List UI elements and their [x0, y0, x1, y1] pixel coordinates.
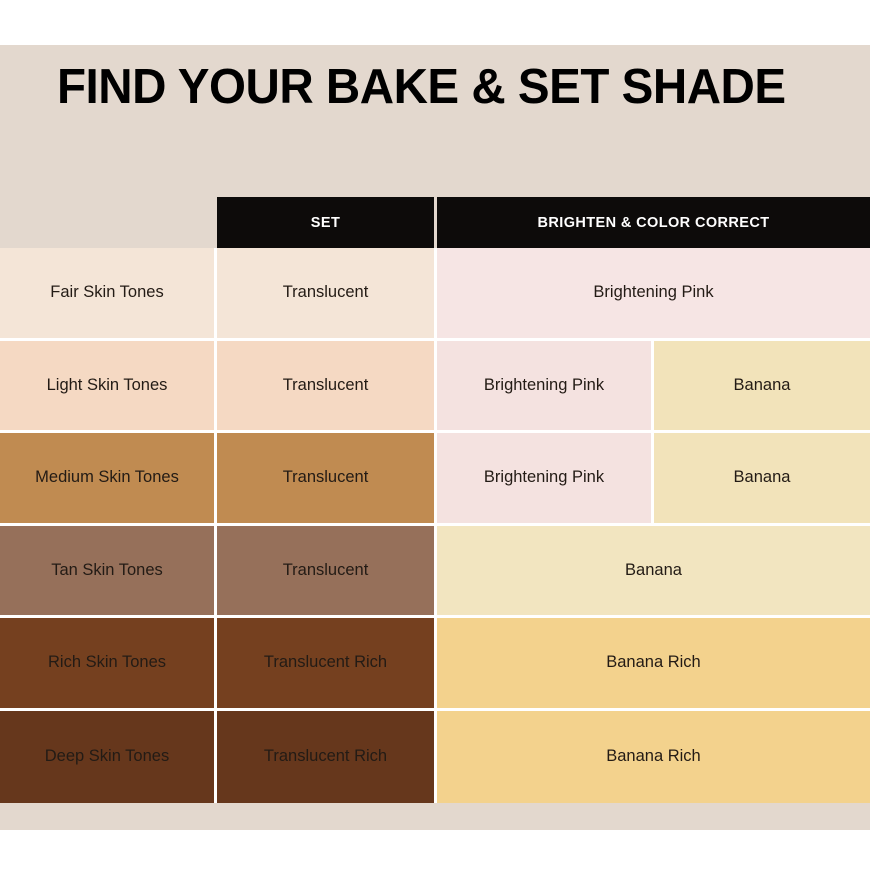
- table-header-row: SET BRIGHTEN & COLOR CORRECT: [0, 197, 870, 248]
- bottom-white-band: [0, 830, 870, 870]
- set-product-cell: Translucent: [217, 341, 437, 431]
- brighten-color-correct-cell: Brightening PinkBanana: [437, 433, 870, 523]
- brighten-color-correct-cell: Banana Rich: [437, 618, 870, 708]
- brighten-color-correct-cell: Banana: [437, 526, 870, 616]
- set-product-cell: Translucent: [217, 433, 437, 523]
- table-body: Fair Skin TonesTranslucentBrightening Pi…: [0, 248, 870, 803]
- skin-tone-label: Medium Skin Tones: [0, 433, 217, 523]
- table-row: Light Skin TonesTranslucentBrightening P…: [0, 341, 870, 434]
- set-product-cell: Translucent: [217, 248, 437, 338]
- brighten-color-correct-cell: Banana Rich: [437, 711, 870, 804]
- brighten-product-option: Banana Rich: [437, 618, 870, 708]
- shade-finder-page: FIND YOUR BAKE & SET SHADE SET BRIGHTEN …: [0, 0, 870, 870]
- table-row: Rich Skin TonesTranslucent RichBanana Ri…: [0, 618, 870, 711]
- page-title: FIND YOUR BAKE & SET SHADE: [57, 57, 833, 117]
- brighten-product-option: Brightening Pink: [437, 341, 654, 431]
- brighten-product-option: Banana: [654, 341, 870, 431]
- table-row: Tan Skin TonesTranslucentBanana: [0, 526, 870, 619]
- brighten-color-correct-cell: Brightening PinkBanana: [437, 341, 870, 431]
- table-row: Medium Skin TonesTranslucentBrightening …: [0, 433, 870, 526]
- header-tone-spacer: [0, 197, 217, 248]
- table-row: Fair Skin TonesTranslucentBrightening Pi…: [0, 248, 870, 341]
- brighten-color-correct-cell: Brightening Pink: [437, 248, 870, 338]
- brighten-product-option: Brightening Pink: [437, 433, 654, 523]
- brighten-product-option: Banana: [654, 433, 870, 523]
- set-product-cell: Translucent: [217, 526, 437, 616]
- header-brighten-color-correct: BRIGHTEN & COLOR CORRECT: [437, 197, 870, 248]
- brighten-product-option: Banana: [437, 526, 870, 616]
- set-product-cell: Translucent Rich: [217, 711, 437, 804]
- skin-tone-label: Light Skin Tones: [0, 341, 217, 431]
- shade-table: SET BRIGHTEN & COLOR CORRECT Fair Skin T…: [0, 197, 870, 803]
- brighten-product-option: Brightening Pink: [437, 248, 870, 338]
- skin-tone-label: Rich Skin Tones: [0, 618, 217, 708]
- header-set: SET: [217, 197, 437, 248]
- skin-tone-label: Fair Skin Tones: [0, 248, 217, 338]
- set-product-cell: Translucent Rich: [217, 618, 437, 708]
- skin-tone-label: Deep Skin Tones: [0, 711, 217, 804]
- skin-tone-label: Tan Skin Tones: [0, 526, 217, 616]
- brighten-product-option: Banana Rich: [437, 711, 870, 804]
- table-row: Deep Skin TonesTranslucent RichBanana Ri…: [0, 711, 870, 804]
